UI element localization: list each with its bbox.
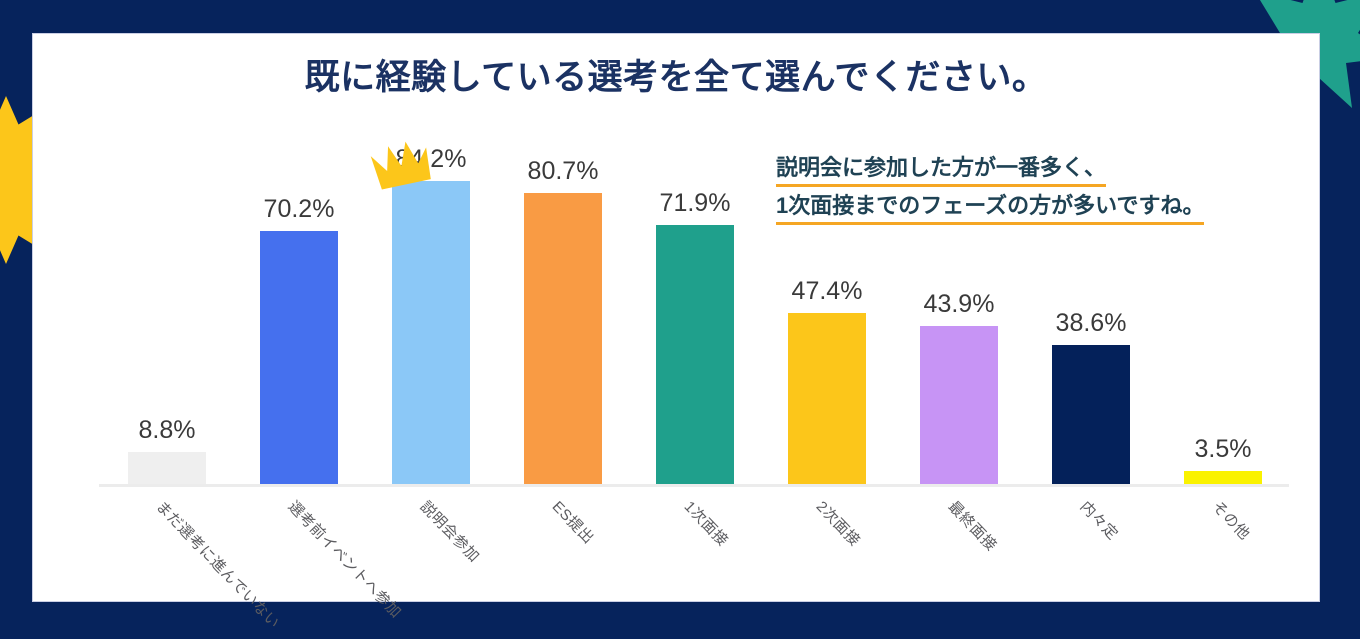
bar-value-label: 38.6% (1056, 309, 1127, 338)
bar[interactable]: 3.5% (1184, 471, 1262, 484)
bar[interactable]: 47.4% (788, 313, 866, 484)
bar[interactable]: 80.7% (524, 193, 602, 484)
x-axis-tick: まだ選考に進んでいない (101, 490, 233, 630)
x-axis-tick: 内々定 (1025, 490, 1157, 630)
bar[interactable]: 43.9% (920, 326, 998, 484)
bar[interactable]: 38.6% (1052, 345, 1130, 484)
bar-value-label: 43.9% (924, 290, 995, 319)
slide-canvas: 既に経験している選考を全て選んでください。 説明会に参加した方が一番多く、 1次… (0, 0, 1360, 639)
crown-icon (367, 135, 435, 192)
bar[interactable]: 71.9% (656, 225, 734, 484)
bar-column[interactable]: 70.2% (233, 101, 365, 484)
bar[interactable]: 8.8% (128, 452, 206, 484)
x-axis-tick-label: 最終面接 (944, 496, 1002, 555)
bar-column[interactable]: 71.9% (629, 101, 761, 484)
bar-column[interactable]: 84.2% (365, 101, 497, 484)
bar-column[interactable]: 38.6% (1025, 101, 1157, 484)
page-title: 既に経験している選考を全て選んでください。 (33, 49, 1319, 100)
x-axis-tick: 説明会参加 (365, 490, 497, 630)
bar-column[interactable]: 3.5% (1157, 101, 1289, 484)
x-axis-tick-label: ES提出 (548, 496, 599, 548)
bar-value-label: 3.5% (1195, 435, 1252, 464)
x-axis-baseline (99, 484, 1289, 487)
bar-column[interactable]: 80.7% (497, 101, 629, 484)
bar-column[interactable]: 47.4% (761, 101, 893, 484)
x-axis-labels: まだ選考に進んでいない選考前イベントへ参加説明会参加ES提出1次面接2次面接最終… (99, 490, 1289, 630)
x-axis-tick-label: 1次面接 (680, 496, 734, 550)
bar-column[interactable]: 8.8% (101, 101, 233, 484)
bar-value-label: 70.2% (264, 195, 335, 224)
x-axis-tick: その他 (1157, 490, 1289, 630)
bar-value-label: 8.8% (139, 416, 196, 445)
x-axis-tick: 2次面接 (761, 490, 893, 630)
bar-chart-plot-area: 8.8%70.2%84.2%80.7%71.9%47.4%43.9%38.6%3… (99, 104, 1289, 487)
x-axis-tick: ES提出 (497, 490, 629, 630)
x-axis-tick-label: 2次面接 (812, 496, 866, 550)
x-axis-tick: 1次面接 (629, 490, 761, 630)
chart-card: 既に経験している選考を全て選んでください。 説明会に参加した方が一番多く、 1次… (32, 33, 1320, 602)
x-axis-tick-label: 内々定 (1076, 496, 1123, 544)
x-axis-tick-label: その他 (1208, 496, 1255, 544)
bar-column[interactable]: 43.9% (893, 101, 1025, 484)
x-axis-tick: 最終面接 (893, 490, 1025, 630)
bar[interactable]: 70.2% (260, 231, 338, 484)
bar-value-label: 47.4% (792, 277, 863, 306)
x-axis-tick-label: 説明会参加 (416, 496, 485, 566)
x-axis-tick: 選考前イベントへ参加 (233, 490, 365, 630)
bar-value-label: 71.9% (660, 189, 731, 218)
bar[interactable]: 84.2% (392, 181, 470, 484)
bar-value-label: 80.7% (528, 157, 599, 186)
